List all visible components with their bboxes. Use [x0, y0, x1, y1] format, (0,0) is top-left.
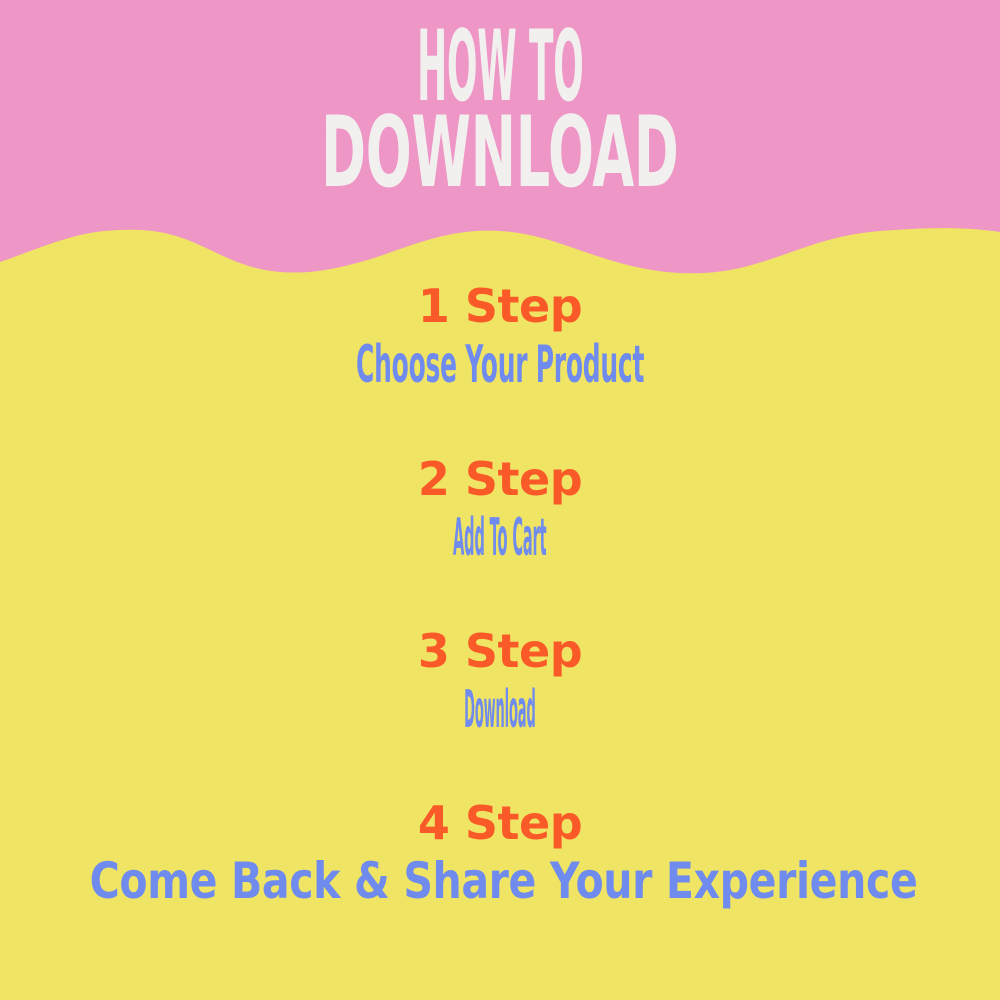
step-item-2: 2 Step Add To Cart — [0, 456, 1000, 564]
step-1-heading: 1 Step — [0, 283, 1000, 329]
poster-canvas: HOW TO DOWNLOAD 1 Step Choose Your Produ… — [0, 0, 1000, 1000]
step-1-description: Choose Your Product — [356, 339, 644, 391]
steps-list: 1 Step Choose Your Product 2 Step Add To… — [0, 0, 1000, 1000]
step-4-description: Come Back & Share Your Experience — [90, 856, 918, 906]
step-item-3: 3 Step Download — [0, 628, 1000, 736]
step-item-1: 1 Step Choose Your Product — [0, 283, 1000, 391]
step-item-4: 4 Step Come Back & Share Your Experience — [0, 800, 1000, 906]
step-2-description: Add To Cart — [453, 512, 546, 564]
step-3-heading: 3 Step — [0, 628, 1000, 674]
step-4-heading: 4 Step — [0, 800, 1000, 846]
step-2-heading: 2 Step — [0, 456, 1000, 502]
step-3-description: Download — [464, 684, 535, 736]
